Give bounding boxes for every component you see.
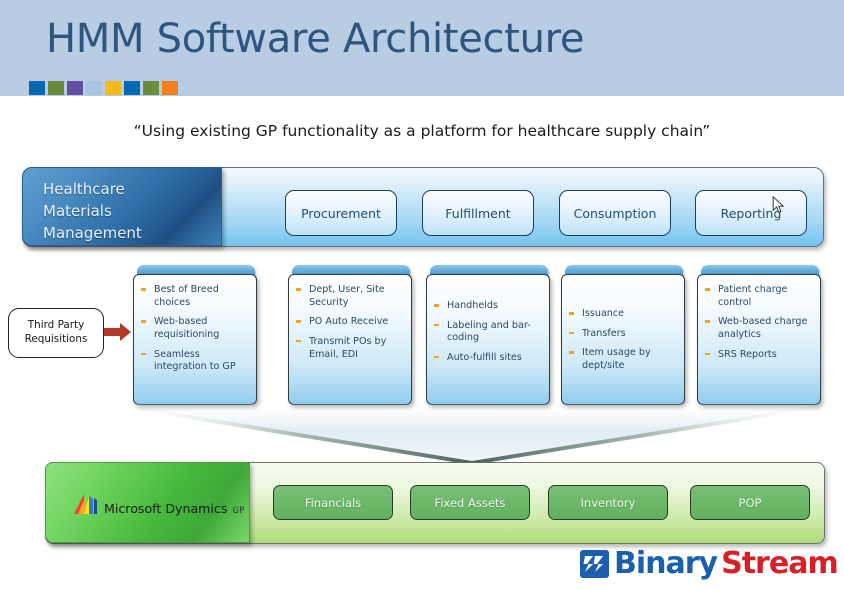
- feature-bullet: Dept, User, Site Security: [295, 284, 406, 309]
- feature-box-procurement: Best of Breed choices Web-based requisit…: [133, 265, 257, 405]
- phase-button-row: Procurement Fulfillment Consumption Repo…: [222, 167, 822, 246]
- third-party-requisitions-box[interactable]: Third Party Requisitions: [8, 308, 104, 358]
- phase-button-consumption[interactable]: Consumption: [559, 190, 671, 236]
- feature-box-reporting: Patient charge control Web-based charge …: [697, 265, 821, 405]
- third-party-label: Third Party Requisitions: [25, 319, 88, 346]
- feature-box-body: Best of Breed choices Web-based requisit…: [133, 274, 257, 405]
- feature-bullet: Patient charge control: [704, 284, 815, 309]
- color-swatch-4: [105, 81, 121, 95]
- logo-secondary-text: Stream: [721, 549, 838, 579]
- hmm-title-text: Healthcare Materials Management: [43, 178, 142, 245]
- feature-box-security: Dept, User, Site Security PO Auto Receiv…: [288, 265, 412, 405]
- binarystream-logo: Binary Stream: [580, 549, 838, 579]
- color-swatch-2: [67, 81, 83, 95]
- hmm-title-line-1: Healthcare: [43, 178, 142, 200]
- logo-primary-text: Binary: [614, 549, 717, 579]
- feature-bullet: Labeling and bar-coding: [433, 320, 544, 345]
- phase-button-reporting[interactable]: Reporting: [695, 190, 807, 236]
- feature-bullet: Auto-fulfill sites: [433, 352, 544, 365]
- gp-brand-panel: Microsoft Dynamics GP: [45, 462, 250, 543]
- feature-bullet: SRS Reports: [704, 349, 815, 362]
- color-swatch-1: [48, 81, 64, 95]
- module-button-inventory[interactable]: Inventory: [548, 485, 668, 520]
- third-party-label-line-1: Third Party: [25, 319, 88, 333]
- color-swatch-strip: [29, 81, 178, 95]
- hmm-title-panel: Healthcare Materials Management: [22, 167, 222, 246]
- hmm-title-line-2: Materials: [43, 200, 142, 222]
- feature-bullet-list: Best of Breed choices Web-based requisit…: [140, 284, 251, 374]
- microsoft-dynamics-logo: Microsoft Dynamics GP: [73, 492, 244, 516]
- mouse-cursor-icon: [772, 196, 786, 214]
- third-party-arrow-icon: [104, 322, 132, 342]
- page-title: HMM Software Architecture: [46, 16, 584, 62]
- gp-module-row: Financials Fixed Assets Inventory POP: [250, 462, 823, 543]
- feature-bullet: PO Auto Receive: [295, 316, 406, 329]
- feature-bullet: Item usage by dept/site: [568, 347, 679, 372]
- module-button-financials[interactable]: Financials: [273, 485, 393, 520]
- feature-box-body: Handhelds Labeling and bar-coding Auto-f…: [426, 274, 550, 405]
- feature-bullet: Transfers: [568, 328, 679, 341]
- feature-bullet: Web-based requisitioning: [140, 316, 251, 341]
- third-party-label-line-2: Requisitions: [25, 333, 88, 347]
- color-swatch-3: [86, 81, 102, 95]
- feature-bullet: Issuance: [568, 308, 679, 321]
- feature-box-consumption: Issuance Transfers Item usage by dept/si…: [561, 265, 685, 405]
- module-button-pop[interactable]: POP: [690, 485, 810, 520]
- feature-bullet: Handhelds: [433, 300, 544, 313]
- feature-box-fulfillment: Handhelds Labeling and bar-coding Auto-f…: [426, 265, 550, 405]
- feature-bullet: Seamless integration to GP: [140, 349, 251, 374]
- feature-box-body: Patient charge control Web-based charge …: [697, 274, 821, 405]
- feature-box-body: Issuance Transfers Item usage by dept/si…: [561, 274, 685, 405]
- platform-name: Microsoft Dynamics: [104, 501, 227, 516]
- binarystream-mark-icon: [580, 549, 610, 579]
- hmm-title-line-3: Management: [43, 222, 142, 244]
- color-swatch-6: [143, 81, 159, 95]
- platform-suffix: GP: [232, 506, 244, 516]
- dynamics-wave-icon: [73, 492, 99, 516]
- feature-bullet-list: Issuance Transfers Item usage by dept/si…: [568, 308, 679, 373]
- down-chevron-arrow-icon: [120, 404, 824, 466]
- feature-bullet: Transmit POs by Email, EDI: [295, 336, 406, 361]
- feature-box-body: Dept, User, Site Security PO Auto Receiv…: [288, 274, 412, 405]
- phase-button-procurement[interactable]: Procurement: [285, 190, 397, 236]
- feature-bullet-list: Dept, User, Site Security PO Auto Receiv…: [295, 284, 406, 361]
- title-band: HMM Software Architecture: [0, 0, 844, 96]
- slide-subtitle: “Using existing GP functionality as a pl…: [0, 122, 844, 140]
- color-swatch-0: [29, 81, 45, 95]
- slide-canvas: HMM Software Architecture “Using existin…: [0, 0, 844, 590]
- color-swatch-5: [124, 81, 140, 95]
- phase-button-fulfillment[interactable]: Fulfillment: [422, 190, 534, 236]
- feature-bullet: Web-based charge analytics: [704, 316, 815, 341]
- color-swatch-7: [162, 81, 178, 95]
- feature-bullet-list: Handhelds Labeling and bar-coding Auto-f…: [433, 300, 544, 365]
- feature-bullet-list: Patient charge control Web-based charge …: [704, 284, 815, 361]
- module-button-fixed-assets[interactable]: Fixed Assets: [410, 485, 530, 520]
- feature-bullet: Best of Breed choices: [140, 284, 251, 309]
